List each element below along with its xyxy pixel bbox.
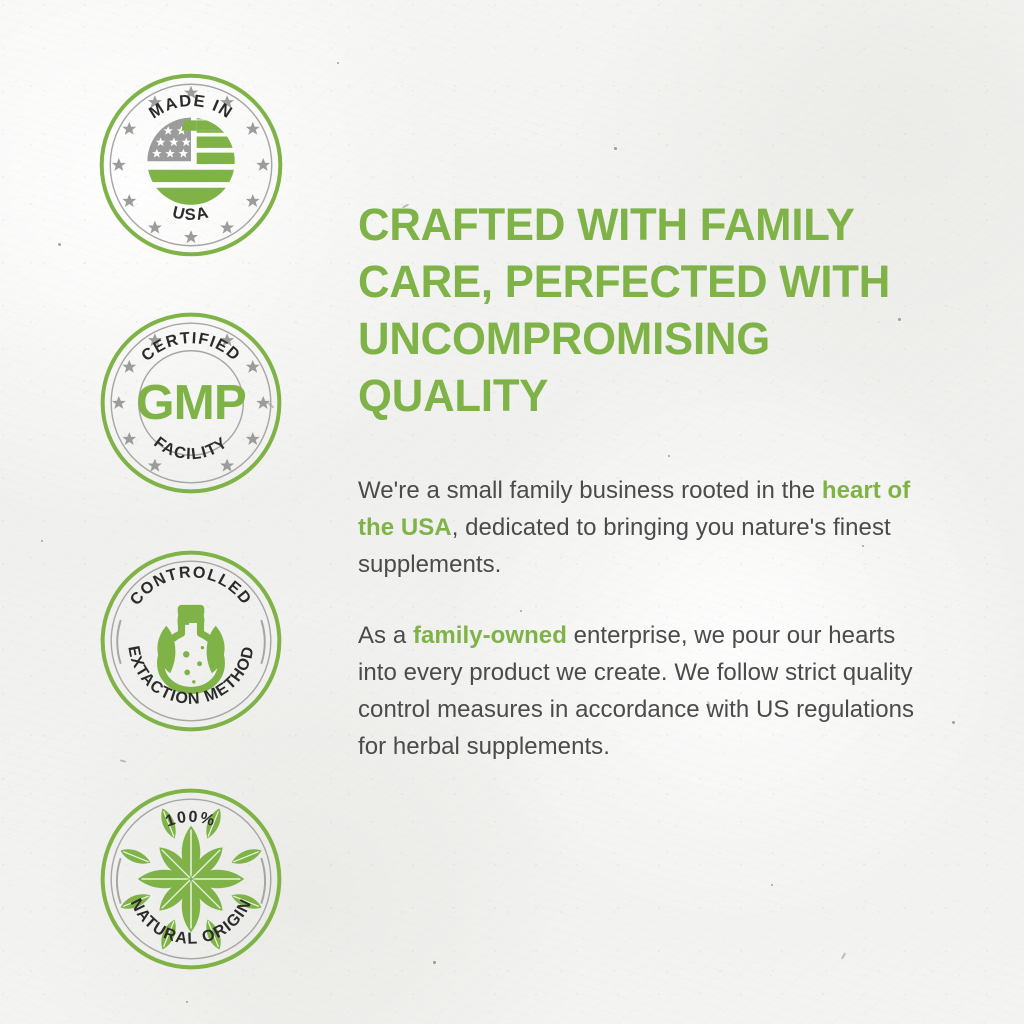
- flask-leaf-icon: [157, 605, 224, 691]
- paper-speck: [952, 721, 955, 724]
- badge-top-label: MADE IN: [145, 91, 236, 123]
- paper-speck: [433, 961, 436, 964]
- paper-speck: [614, 147, 617, 150]
- badge-side-arc: [261, 858, 265, 904]
- copy-block: CRAFTED WITH FAMILY CARE, PERFECTED WITH…: [358, 196, 924, 765]
- badge-bottom-label: USA: [171, 202, 212, 224]
- trust-badge-column: MADE IN USA: [96, 70, 296, 1022]
- badge-side-arc: [261, 620, 264, 664]
- promo-panel: MADE IN USA: [0, 0, 1024, 1024]
- page-title: CRAFTED WITH FAMILY CARE, PERFECTED WITH…: [358, 196, 907, 424]
- body-paragraph-2: As a family-owned enterprise, we pour ou…: [358, 617, 924, 765]
- paper-speck: [337, 62, 339, 64]
- badge-controlled-extaction-method: CONTROLLED EXTACTION METHOD: [96, 546, 286, 736]
- body-paragraph-1: We're a small family business rooted in …: [358, 472, 924, 583]
- badge-side-arc: [117, 620, 120, 664]
- badge-bottom-label: EXTACTION METHOD: [124, 644, 257, 708]
- paper-speck: [58, 243, 61, 246]
- badge-natural-origin: 100% NATURAL ORIGIN: [96, 784, 286, 974]
- badge-gmp-certified-facility: GMP CERTIFIED FACILITY: [96, 308, 286, 498]
- badge-bottom-label: FACILITY: [150, 433, 231, 463]
- body-text: As a: [358, 622, 413, 649]
- body-text: We're a small family business rooted in …: [358, 477, 822, 504]
- badge-top-label: CERTIFIED: [138, 329, 244, 365]
- paper-speck: [41, 540, 43, 542]
- paper-speck: [771, 884, 773, 886]
- badge-side-arc: [117, 858, 121, 904]
- emphasis-text: family-owned: [413, 622, 567, 649]
- gmp-text-icon: GMP: [136, 375, 246, 430]
- badge-made-in-usa: MADE IN USA: [96, 70, 286, 260]
- badge-top-label: CONTROLLED: [126, 563, 255, 609]
- usa-flag-circle-icon: [147, 116, 238, 205]
